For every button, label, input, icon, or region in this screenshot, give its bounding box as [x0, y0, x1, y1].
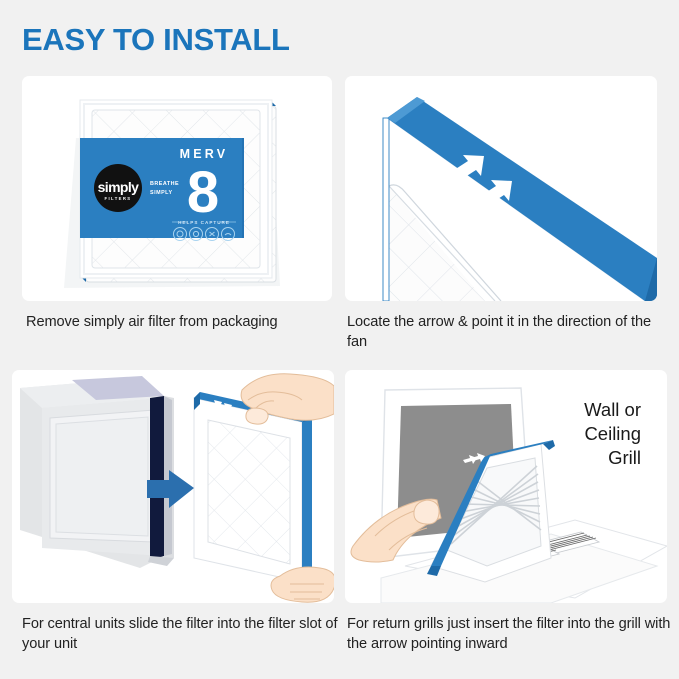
- svg-text:BREATHE: BREATHE: [150, 181, 179, 187]
- ceiling-grill-insert-illustration: Wall or Ceiling Grill: [345, 370, 667, 603]
- svg-text:HELPS CAPTURE: HELPS CAPTURE: [178, 220, 230, 225]
- filter-edge-airflow-illustration: [345, 76, 657, 301]
- infographic-page: EASY TO INSTALL: [0, 0, 679, 679]
- page-title: EASY TO INSTALL: [22, 22, 290, 58]
- svg-text:simply: simply: [98, 179, 140, 195]
- step-4-caption: For return grills just insert the filter…: [347, 614, 677, 654]
- svg-text:MERV: MERV: [180, 147, 229, 161]
- step-3-illustration-card: [12, 370, 334, 603]
- svg-text:SIMPLY: SIMPLY: [150, 190, 173, 196]
- svg-text:FILTERS: FILTERS: [105, 196, 132, 201]
- svg-text:8: 8: [187, 160, 219, 225]
- grill-label-line-3: Grill: [608, 447, 641, 468]
- grill-label-line-2: Ceiling: [584, 423, 641, 444]
- step-4-illustration-card: Wall or Ceiling Grill: [345, 370, 667, 603]
- sliding-filter-into-slot-illustration: [12, 370, 334, 603]
- filter-box-packaging-illustration: simply FILTERS BREATHE SIMPLY MERV 8 HEL…: [22, 76, 332, 301]
- hand-top: [241, 374, 334, 424]
- step-1-caption: Remove simply air filter from packaging: [26, 312, 346, 332]
- step-1-illustration-card: simply FILTERS BREATHE SIMPLY MERV 8 HEL…: [22, 76, 332, 301]
- step-3-caption: For central units slide the filter into …: [22, 614, 342, 654]
- step-2-caption: Locate the arrow & point it in the direc…: [347, 312, 663, 352]
- step-2-illustration-card: [345, 76, 657, 301]
- grill-label-line-1: Wall or: [584, 399, 641, 420]
